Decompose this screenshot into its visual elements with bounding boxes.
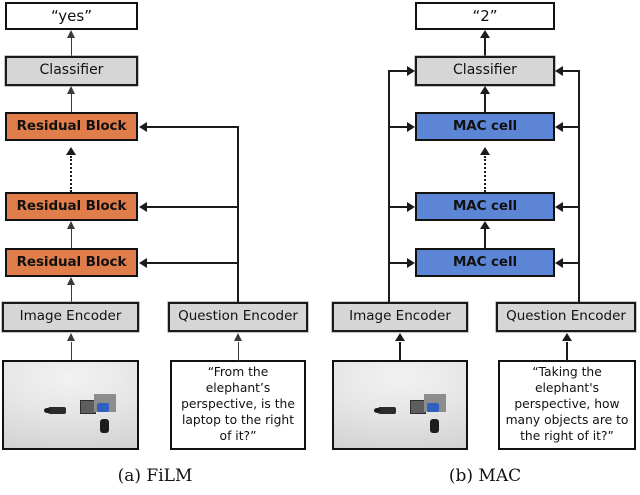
film-bus-to-block2 <box>147 206 239 208</box>
scene-object-cylinder-cap <box>44 408 50 413</box>
film-arrowhead-answer <box>67 30 75 38</box>
mac-cell-2-label: MAC cell <box>453 199 517 214</box>
film-arrowhead-block1 <box>67 277 75 285</box>
mac-arrowhead-right-cell3 <box>555 122 563 132</box>
mac-edge-cell1-cell2 <box>484 229 486 248</box>
scene-object-blue-item <box>97 403 109 412</box>
mac-edge-cell2-cell3-dotted <box>484 156 486 192</box>
film-edge-block2-block3-dotted <box>70 156 72 192</box>
mac-edge-question-qenc <box>566 342 568 361</box>
mac-classifier-label: Classifier <box>453 63 517 79</box>
film-arrowhead-block3 <box>66 147 76 155</box>
mac-caption: (b) MAC <box>330 466 640 486</box>
film-residual-block-2-label: Residual Block <box>17 199 127 214</box>
film-residual-block-1-label: Residual Block <box>17 255 127 270</box>
mac-arrowhead-cell3 <box>480 147 490 155</box>
scene-object-cylinder <box>48 407 66 414</box>
mac-arrowhead-imgenc <box>395 333 405 341</box>
film-edge-question-qenc <box>238 342 240 361</box>
mac-bus-right-to-classifier <box>563 70 580 72</box>
film-question-box: “From the elephant’s perspective, is the… <box>170 360 306 450</box>
film-input-image <box>2 360 139 450</box>
mac-cell-2: MAC cell <box>415 192 555 221</box>
mac-cell-1-label: MAC cell <box>453 255 517 270</box>
film-edge-imgenc-block1 <box>71 285 73 303</box>
film-edge-block3-classifier <box>71 94 73 112</box>
film-bus-vertical-right <box>237 126 239 267</box>
film-edge-block1-block2 <box>71 229 73 248</box>
mac-arrowhead-right-cell1 <box>555 258 563 268</box>
mac-input-image <box>332 360 468 450</box>
mac-arrowhead-cell2 <box>480 221 490 229</box>
mac-bus-left-to-cell2 <box>388 206 408 208</box>
film-question-text: “From the elephant’s perspective, is the… <box>172 362 304 448</box>
scene-object-person <box>100 419 109 433</box>
mac-cell-3: MAC cell <box>415 112 555 141</box>
mac-bus-left-to-cell3 <box>388 126 408 128</box>
mac-bus-right-to-cell1 <box>563 262 580 264</box>
scene-object-blue-item <box>427 403 439 412</box>
film-question-encoder-box: Question Encoder <box>168 302 308 332</box>
mac-bus-left-to-classifier <box>388 70 408 72</box>
mac-bus-right-to-cell2 <box>563 206 580 208</box>
film-residual-block-2: Residual Block <box>5 192 138 221</box>
film-arrowhead-imgenc <box>67 333 75 341</box>
film-edge-classifier-answer <box>71 38 73 57</box>
mac-bus-vertical-left <box>388 71 390 303</box>
mac-arrowhead-qenc <box>562 333 572 341</box>
mac-arrowhead-right-cell2 <box>555 202 563 212</box>
film-bus-to-block1 <box>147 262 239 264</box>
film-arrowhead-block2-cond <box>139 202 147 212</box>
mac-arrowhead-left-cell1 <box>407 258 415 268</box>
mac-cell-3-label: MAC cell <box>453 119 517 134</box>
film-answer-label: “yes” <box>51 8 92 25</box>
scene-object-cylinder-cap <box>374 408 380 413</box>
mac-bus-left-to-cell1 <box>388 262 408 264</box>
mac-edge-image-imgenc <box>399 342 401 361</box>
mac-arrowhead-right-classifier <box>555 66 563 76</box>
scene-object-person <box>430 419 439 433</box>
mac-arrowhead-classifier <box>480 86 490 94</box>
mac-arrowhead-left-classifier <box>407 66 415 76</box>
mac-question-encoder-box: Question Encoder <box>496 302 636 332</box>
mac-question-text: “Taking the elephant's perspective, how … <box>500 362 634 448</box>
mac-cell-1: MAC cell <box>415 248 555 277</box>
film-caption: (a) FiLM <box>0 466 310 486</box>
film-answer-box: “yes” <box>5 2 138 30</box>
mac-bus-vertical-right <box>578 70 580 303</box>
film-residual-block-1: Residual Block <box>5 248 138 277</box>
film-residual-block-3: Residual Block <box>5 112 138 141</box>
film-arrowhead-block1-cond <box>139 258 147 268</box>
figure-canvas: “yes” Classifier Residual Block Residual… <box>0 0 640 495</box>
mac-edge-cell3-classifier <box>484 94 486 112</box>
film-arrowhead-qenc <box>234 333 242 341</box>
mac-classifier-box: Classifier <box>415 56 555 86</box>
mac-arrowhead-left-cell3 <box>407 122 415 132</box>
mac-question-box: “Taking the elephant's perspective, how … <box>498 360 636 450</box>
mac-image-encoder-label: Image Encoder <box>349 309 451 324</box>
film-classifier-box: Classifier <box>5 56 138 86</box>
film-edge-image-imgenc <box>71 342 73 361</box>
mac-image-encoder-box: Image Encoder <box>332 302 468 332</box>
film-arrowhead-block3-cond <box>139 122 147 132</box>
mac-arrowhead-left-cell2 <box>407 202 415 212</box>
film-arrowhead-block2 <box>67 221 75 229</box>
film-image-encoder-label: Image Encoder <box>20 309 122 324</box>
mac-question-encoder-label: Question Encoder <box>506 309 626 324</box>
film-residual-block-3-label: Residual Block <box>17 119 127 134</box>
film-arrowhead-classifier <box>67 86 75 94</box>
mac-arrowhead-answer <box>480 30 490 38</box>
scene-object-cylinder <box>378 407 396 414</box>
film-classifier-label: Classifier <box>40 63 104 79</box>
film-question-encoder-label: Question Encoder <box>178 309 298 324</box>
film-image-encoder-box: Image Encoder <box>2 302 139 332</box>
mac-edge-classifier-answer <box>484 38 486 57</box>
mac-bus-right-to-cell3 <box>563 126 580 128</box>
mac-answer-label: “2” <box>472 8 497 25</box>
film-bus-to-block3 <box>147 126 239 128</box>
mac-answer-box: “2” <box>415 2 555 30</box>
